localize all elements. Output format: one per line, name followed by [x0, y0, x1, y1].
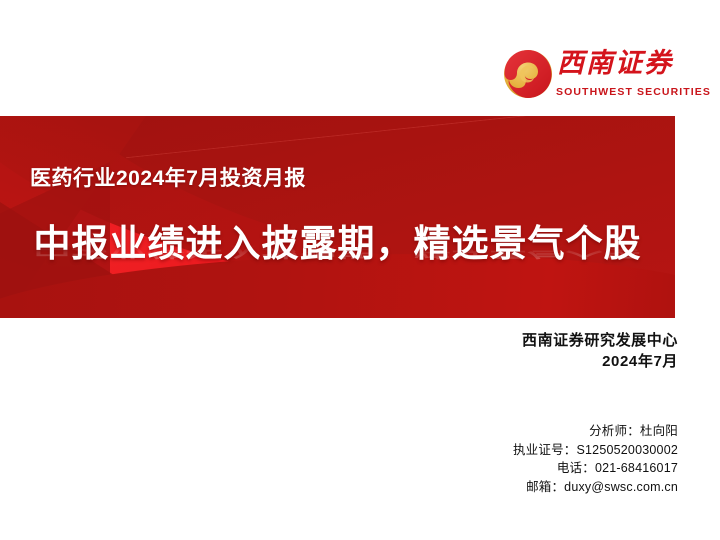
- analyst-license-number: 执业证号：S1250520030002: [513, 441, 678, 460]
- organization-block: 西南证券研究发展中心 2024年7月: [522, 330, 678, 373]
- cover-page: 西南证券 SOUTHWEST SECURITIES 医药行业2024年7月投资月…: [0, 0, 720, 540]
- logo-brand-en: SOUTHWEST SECURITIES: [556, 86, 698, 98]
- analyst-name: 分析师：杜向阳: [513, 422, 678, 441]
- report-subtitle: 医药行业2024年7月投资月报: [30, 162, 306, 192]
- report-title-group: 中报业绩进入披露期，精选景气个股 中报业绩进入披露期，精选景气个股: [0, 221, 675, 307]
- title-banner: 医药行业2024年7月投资月报 中报业绩进入披露期，精选景气个股 中报业绩进入披…: [0, 116, 675, 318]
- report-date: 2024年7月: [522, 351, 678, 373]
- analyst-phone: 电话：021-68416017: [513, 459, 678, 478]
- report-title: 中报业绩进入披露期，精选景气个股: [34, 221, 642, 267]
- logo-brand-cn: 西南证券: [557, 48, 695, 80]
- organization-name: 西南证券研究发展中心: [522, 330, 678, 351]
- southwest-securities-emblem-icon: [503, 49, 553, 99]
- analyst-info-block: 分析师：杜向阳 执业证号：S1250520030002 电话：021-68416…: [513, 422, 678, 496]
- company-logo: 西南证券 SOUTHWEST SECURITIES: [503, 46, 695, 108]
- analyst-email: 邮箱：duxy@swsc.com.cn: [513, 478, 678, 497]
- logo-wordmark: 西南证券: [557, 48, 695, 90]
